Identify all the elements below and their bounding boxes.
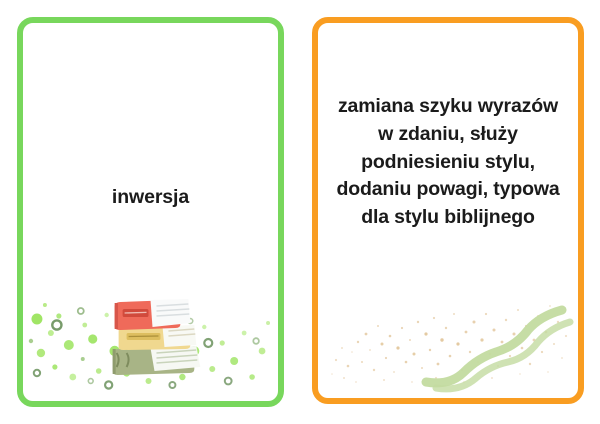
- flashcard-board: inwersja: [0, 0, 600, 424]
- definition-card[interactable]: zamiana szyku wyrazów w zdaniu, służy po…: [312, 17, 584, 404]
- definition-text: zamiana szyku wyrazów w zdaniu, służy po…: [332, 93, 564, 231]
- term-card-content: inwersja: [23, 23, 278, 401]
- term-card[interactable]: inwersja: [17, 17, 284, 407]
- term-text: inwersja: [112, 186, 189, 209]
- definition-card-content: zamiana szyku wyrazów w zdaniu, służy po…: [318, 23, 578, 398]
